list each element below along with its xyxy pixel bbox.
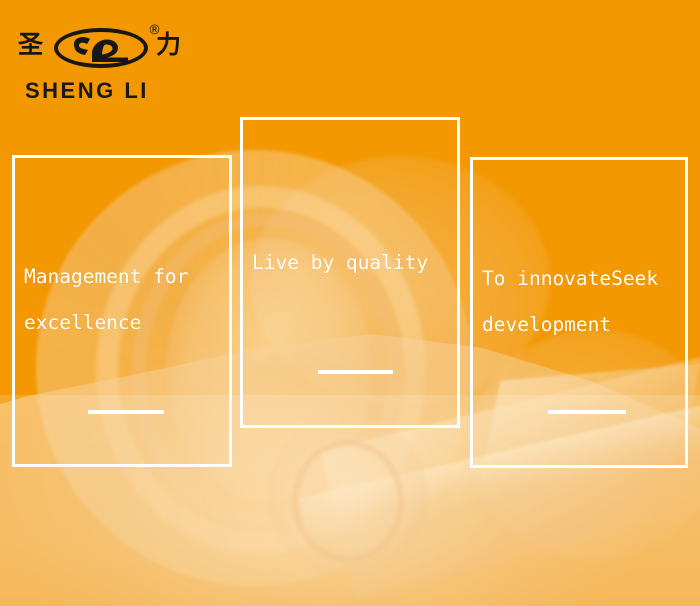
slogan-card-live-by-quality: Live by quality [240, 117, 460, 428]
logo-wordmark: SHENG LI [25, 80, 149, 102]
registered-trademark-icon: ® [148, 24, 161, 37]
logo-chinese-character-left: 圣 [18, 32, 43, 57]
logo-mark: 圣 力 ® [18, 22, 184, 78]
slogan-divider-dash [548, 410, 626, 414]
slogan-text: Live by quality [252, 240, 464, 286]
slogan-text: To innovateSeek development [482, 256, 696, 348]
slogan-card-to-innovate-seek-development: To innovateSeek development [470, 157, 688, 468]
brand-logo: 圣 力 ® SHENG LI [18, 22, 184, 104]
slogan-card-management-for-excellence: Management for excellence [12, 155, 232, 467]
slogan-divider-dash [318, 370, 393, 374]
logo-monogram-icon [66, 32, 136, 64]
slogan-text: Management for excellence [24, 254, 240, 346]
slogan-divider-dash [88, 410, 164, 414]
company-slogan-banner: 圣 力 ® SHENG LI Management for excellence… [0, 0, 700, 606]
